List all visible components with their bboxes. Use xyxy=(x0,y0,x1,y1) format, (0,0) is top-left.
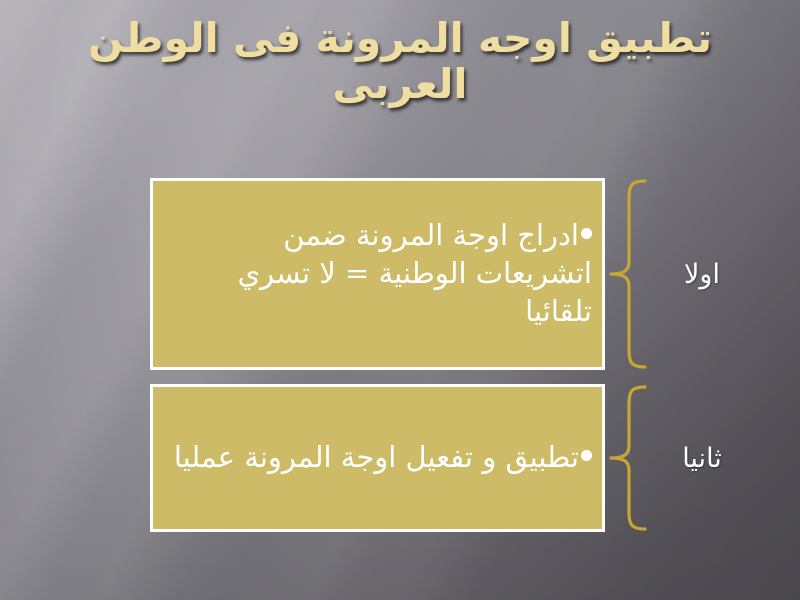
bullet-dot-icon xyxy=(581,228,592,239)
slide-title: تطبيق اوجه المرونة فى الوطن العربى xyxy=(60,16,740,108)
bullet-dot-icon xyxy=(581,450,592,461)
bullet-text: تطبيق و تفعيل اوجة المرونة عمليا xyxy=(174,440,579,474)
curly-brace-icon xyxy=(605,384,649,532)
row-label-second: ثانيا xyxy=(649,384,755,532)
row-label-first: اولا xyxy=(649,178,755,370)
content-row-first: اولا ادراج اوجة المرونة ضمن اتشريعات الو… xyxy=(150,178,755,370)
curly-brace-icon xyxy=(605,178,649,370)
bullet-list-item: ادراج اوجة المرونة ضمن اتشريعات الوطنية … xyxy=(165,217,592,330)
bullet-list-item: تطبيق و تفعيل اوجة المرونة عمليا xyxy=(165,439,592,477)
bullet-text: ادراج اوجة المرونة ضمن اتشريعات الوطنية … xyxy=(237,218,592,327)
content-row-second: ثانيا تطبيق و تفعيل اوجة المرونة عمليا xyxy=(150,384,755,532)
presentation-slide: تطبيق اوجه المرونة فى الوطن العربى اولا … xyxy=(0,0,800,600)
content-box-second: تطبيق و تفعيل اوجة المرونة عمليا xyxy=(150,384,605,532)
content-box-first: ادراج اوجة المرونة ضمن اتشريعات الوطنية … xyxy=(150,178,605,370)
